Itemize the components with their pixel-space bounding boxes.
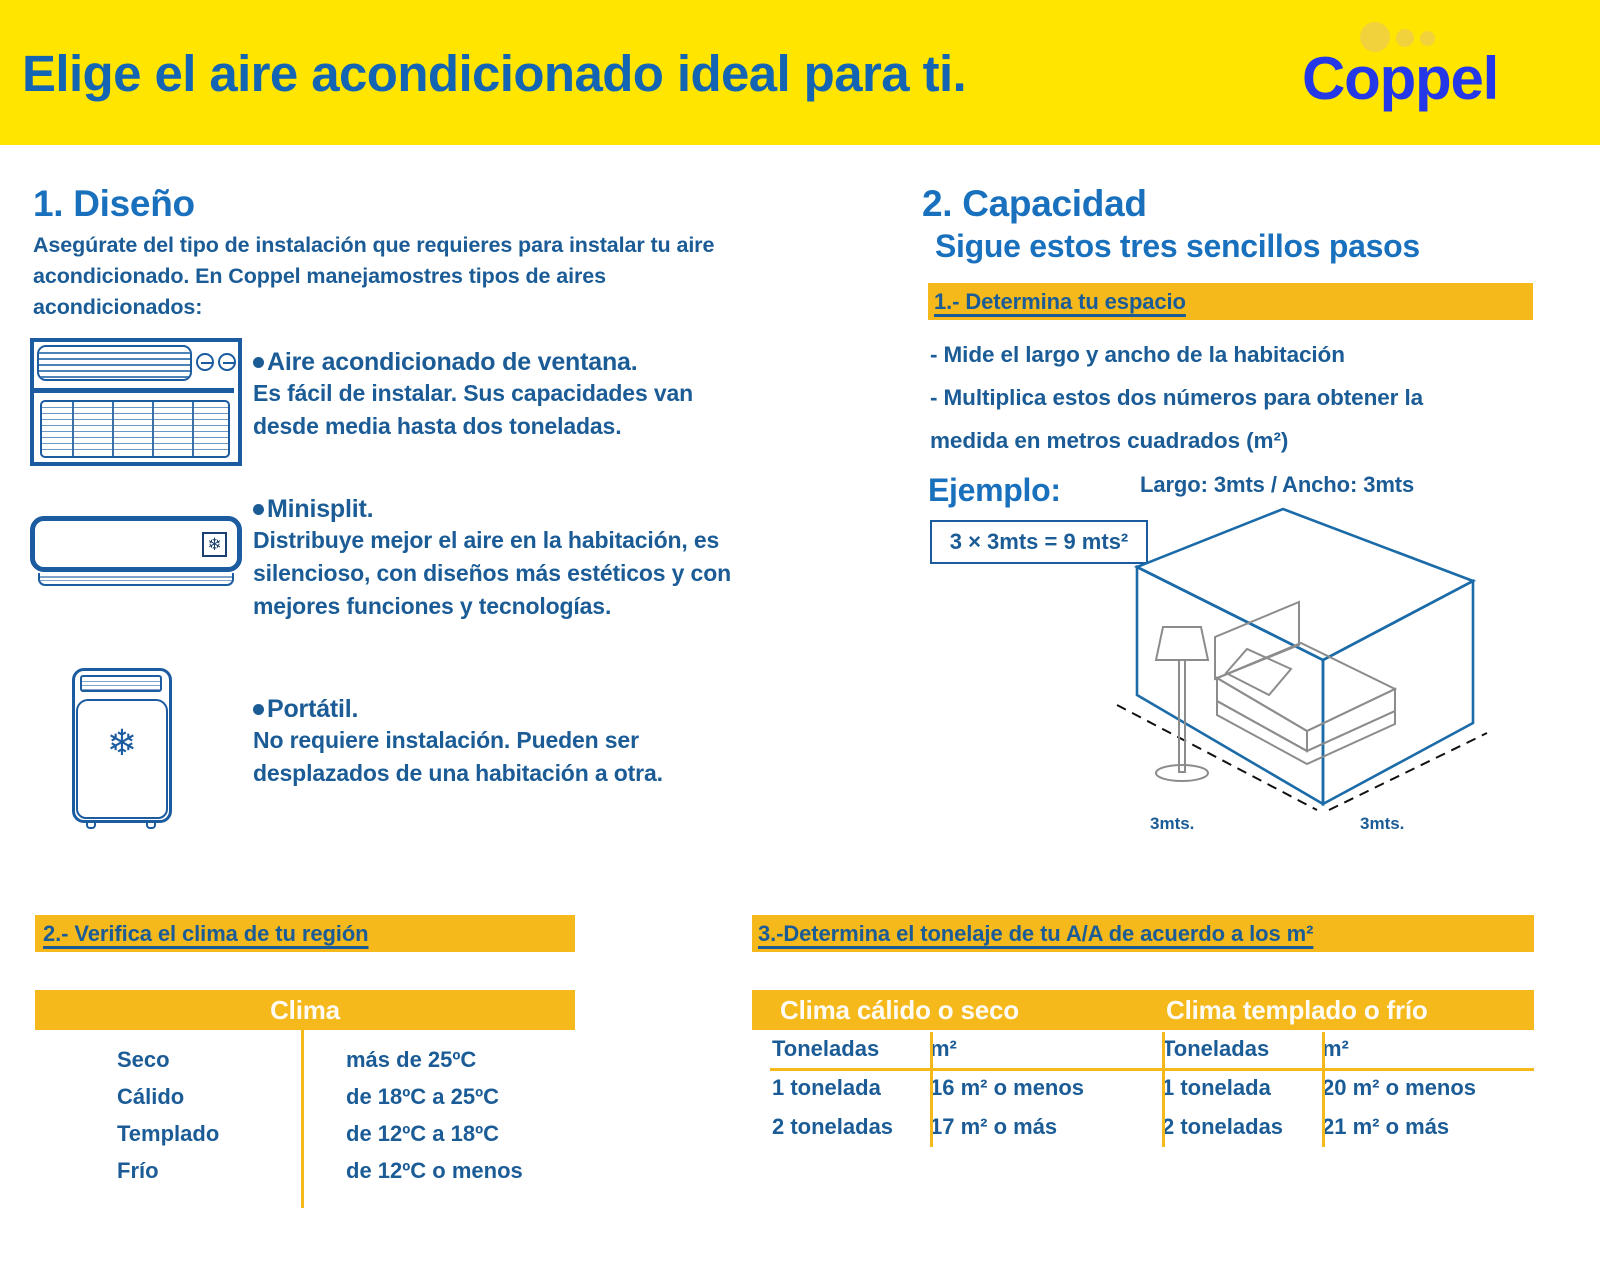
ac-item-portable-title: Portátil. <box>253 695 793 724</box>
section2-subtitle: Sigue estos tres sencillos pasos <box>935 228 1420 265</box>
table-row: Templado de 12ºC a 18ºC <box>35 1115 575 1152</box>
section1-title: 1. Diseño <box>33 183 195 225</box>
step3-header-label: 3.-Determina el tonelaje de tu A/A de ac… <box>758 921 1313 947</box>
table-row: Cálido de 18ºC a 25ºC <box>35 1078 575 1115</box>
step1-line-1: - Mide el largo y ancho de la habitación <box>930 333 1530 376</box>
ac-item-minisplit-title-text: Minisplit. <box>267 495 373 523</box>
page-title: Elige el aire acondicionado ideal para t… <box>22 44 966 103</box>
coppel-logo: Coppel <box>1302 18 1522 128</box>
step1-header-label: 1.- Determina tu espacio <box>934 289 1186 315</box>
step1-line-2: - Multiplica estos dos números para obte… <box>930 376 1530 419</box>
bullet-icon <box>253 704 264 715</box>
ac-item-window-title-text: Aire acondicionado de ventana. <box>267 348 637 376</box>
clima-name: Frío <box>35 1158 301 1184</box>
ac-item-window-body: Es fácil de instalar. Sus capacidades va… <box>253 377 753 443</box>
clima-table-header: Clima <box>35 990 575 1030</box>
clima-range: de 18ºC a 25ºC <box>301 1084 499 1110</box>
table-row: Seco más de 25ºC <box>35 1041 575 1078</box>
example-label: Ejemplo: <box>928 472 1061 509</box>
minisplit-air-conditioner-icon: ❄ <box>30 516 242 594</box>
ac-item-window-title: Aire acondicionado de ventana. <box>253 348 793 377</box>
clima-range: de 12ºC a 18ºC <box>301 1121 499 1147</box>
tonelaje-table: Clima cálido o seco Clima templado o frí… <box>752 990 1534 1146</box>
cell-m2-warm: 16 m² o menos <box>912 1068 1144 1107</box>
ac-item-minisplit-body: Distribuye mejor el aire en la habitació… <box>253 524 783 623</box>
tonelaje-sub-headers: Toneladas m² Toneladas m² <box>752 1030 1534 1068</box>
subheader-toneladas-cool: Toneladas <box>1144 1030 1304 1068</box>
clima-name: Templado <box>35 1121 301 1147</box>
infographic-page: Elige el aire acondicionado ideal para t… <box>0 0 1600 1280</box>
cell-toneladas-warm: 1 tonelada <box>752 1068 912 1107</box>
subheader-toneladas-warm: Toneladas <box>752 1030 912 1068</box>
tonelaje-group-headers: Clima cálido o seco Clima templado o frí… <box>752 990 1534 1030</box>
ac-item-portable: Portátil. No requiere instalación. Puede… <box>253 695 793 790</box>
step1-header-bar: 1.- Determina tu espacio <box>928 283 1533 320</box>
cell-m2-cool: 21 m² o más <box>1304 1107 1534 1146</box>
clima-range: más de 25ºC <box>301 1047 476 1073</box>
room-dim-left-label: 3mts. <box>1150 814 1194 834</box>
clima-table-body: Seco más de 25ºC Cálido de 18ºC a 25ºC T… <box>35 1030 575 1189</box>
header-underline <box>770 1068 1534 1071</box>
portable-air-conditioner-icon: ❄ <box>72 668 172 830</box>
subheader-m2-warm: m² <box>912 1030 1144 1068</box>
step3-header-bar: 3.-Determina el tonelaje de tu A/A de ac… <box>752 915 1534 952</box>
room-dimensions-label: Largo: 3mts / Ancho: 3mts <box>1140 472 1414 498</box>
bullet-icon <box>253 357 264 368</box>
clima-name: Seco <box>35 1047 301 1073</box>
step2-header-bar: 2.- Verifica el clima de tu región <box>35 915 575 952</box>
section1-intro: Asegúrate del tipo de instalación que re… <box>33 230 753 323</box>
ac-item-minisplit-title: Minisplit. <box>253 495 793 524</box>
clima-range: de 12ºC o menos <box>301 1158 523 1184</box>
table-row: 1 tonelada 16 m² o menos 1 tonelada 20 m… <box>752 1068 1534 1107</box>
step1-instructions: - Mide el largo y ancho de la habitación… <box>930 333 1530 462</box>
column-divider <box>301 1030 304 1208</box>
cell-m2-cool: 20 m² o menos <box>1304 1068 1534 1107</box>
window-air-conditioner-icon <box>30 338 242 466</box>
table-row: Frío de 12ºC o menos <box>35 1152 575 1189</box>
step1-line-3: medida en metros cuadrados (m²) <box>930 419 1530 462</box>
section2-title: 2. Capacidad <box>922 183 1147 225</box>
bullet-icon <box>253 504 264 515</box>
group-header-cool: Clima templado o frío <box>1144 990 1534 1030</box>
tonelaje-table-body: Toneladas m² Toneladas m² 1 tonelada 16 … <box>752 1030 1534 1146</box>
subheader-m2-cool: m² <box>1304 1030 1534 1068</box>
step2-header-label: 2.- Verifica el clima de tu región <box>43 921 369 947</box>
ac-item-portable-title-text: Portátil. <box>267 695 358 723</box>
cell-m2-warm: 17 m² o más <box>912 1107 1144 1146</box>
group-header-warm: Clima cálido o seco <box>752 990 1144 1030</box>
snowflake-icon: ❄ <box>202 532 227 557</box>
header-banner: Elige el aire acondicionado ideal para t… <box>0 0 1600 145</box>
column-divider <box>1322 1032 1325 1147</box>
ac-item-window: Aire acondicionado de ventana. Es fácil … <box>253 348 793 443</box>
cell-toneladas-cool: 2 toneladas <box>1144 1107 1304 1146</box>
cell-toneladas-warm: 2 toneladas <box>752 1107 912 1146</box>
snowflake-icon: ❄ <box>78 725 166 761</box>
column-divider <box>1162 1032 1165 1147</box>
room-3d-diagram <box>1095 505 1515 825</box>
clima-table: Clima Seco más de 25ºC Cálido de 18ºC a … <box>35 990 575 1189</box>
ac-item-portable-body: No requiere instalación. Pueden ser desp… <box>253 724 743 790</box>
logo-wordmark: Coppel <box>1302 44 1498 113</box>
column-divider <box>930 1032 933 1147</box>
clima-name: Cálido <box>35 1084 301 1110</box>
ac-item-minisplit: Minisplit. Distribuye mejor el aire en l… <box>253 495 793 623</box>
table-row: 2 toneladas 17 m² o más 2 toneladas 21 m… <box>752 1107 1534 1146</box>
room-dim-right-label: 3mts. <box>1360 814 1404 834</box>
cell-toneladas-cool: 1 tonelada <box>1144 1068 1304 1107</box>
